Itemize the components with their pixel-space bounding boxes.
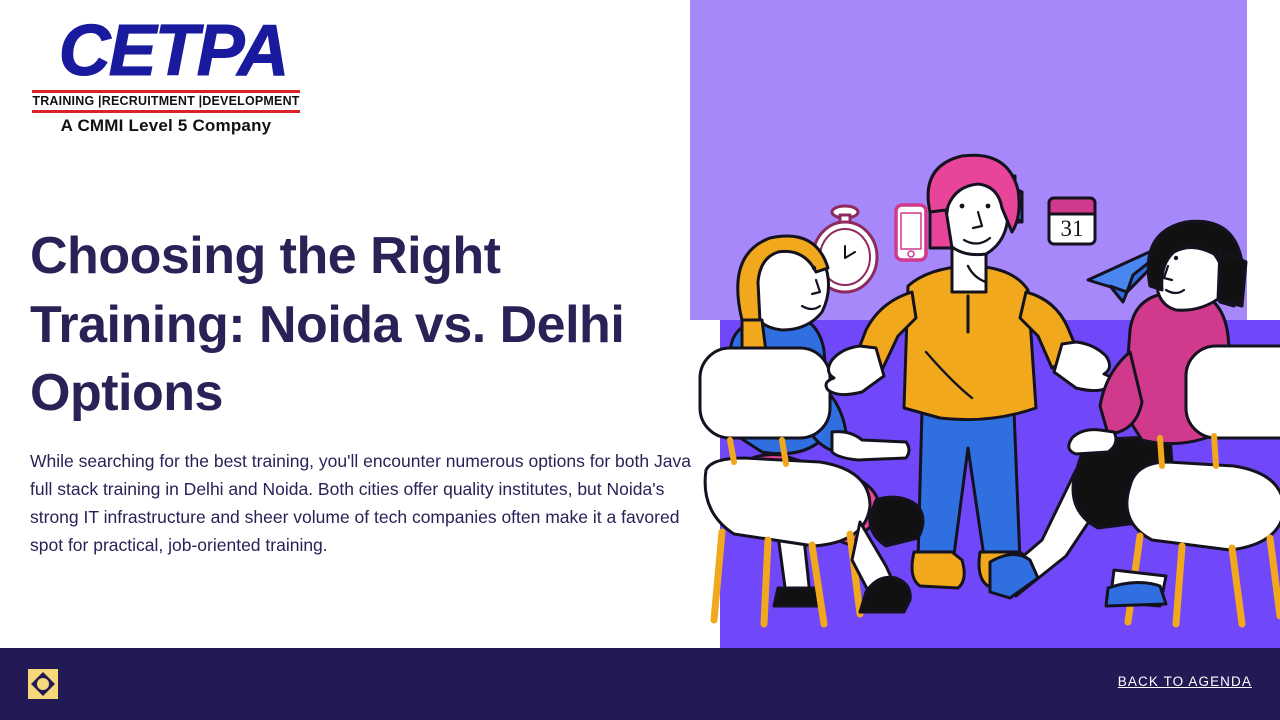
logo-certification: A CMMI Level 5 Company (26, 116, 306, 136)
back-to-agenda-link[interactable]: BACK TO AGENDA (1118, 674, 1252, 689)
calendar-icon: 31 (1049, 198, 1095, 244)
seated-person-left (700, 236, 910, 624)
cetpa-mark-icon (28, 669, 58, 699)
logo-wordmark: CETPA (16, 14, 316, 88)
calendar-day-label: 31 (1061, 216, 1084, 241)
page-body-text: While searching for the best training, y… (30, 447, 698, 559)
logo-rule-bottom (32, 110, 300, 113)
slide-root: CETPA TRAINING |RECRUITMENT |DEVELOPMENT… (0, 0, 1280, 720)
page-title: Choosing the Right Training: Noida vs. D… (30, 222, 630, 428)
slide-footer: BACK TO AGENDA (0, 648, 1280, 720)
brand-logo: CETPA TRAINING |RECRUITMENT |DEVELOPMENT… (16, 14, 316, 136)
logo-tagline: TRAINING |RECRUITMENT |DEVELOPMENT (32, 94, 300, 108)
illustration-artwork: 31 (690, 0, 1280, 650)
illustration: 31 (690, 0, 1280, 650)
smartphone-icon (896, 205, 926, 260)
